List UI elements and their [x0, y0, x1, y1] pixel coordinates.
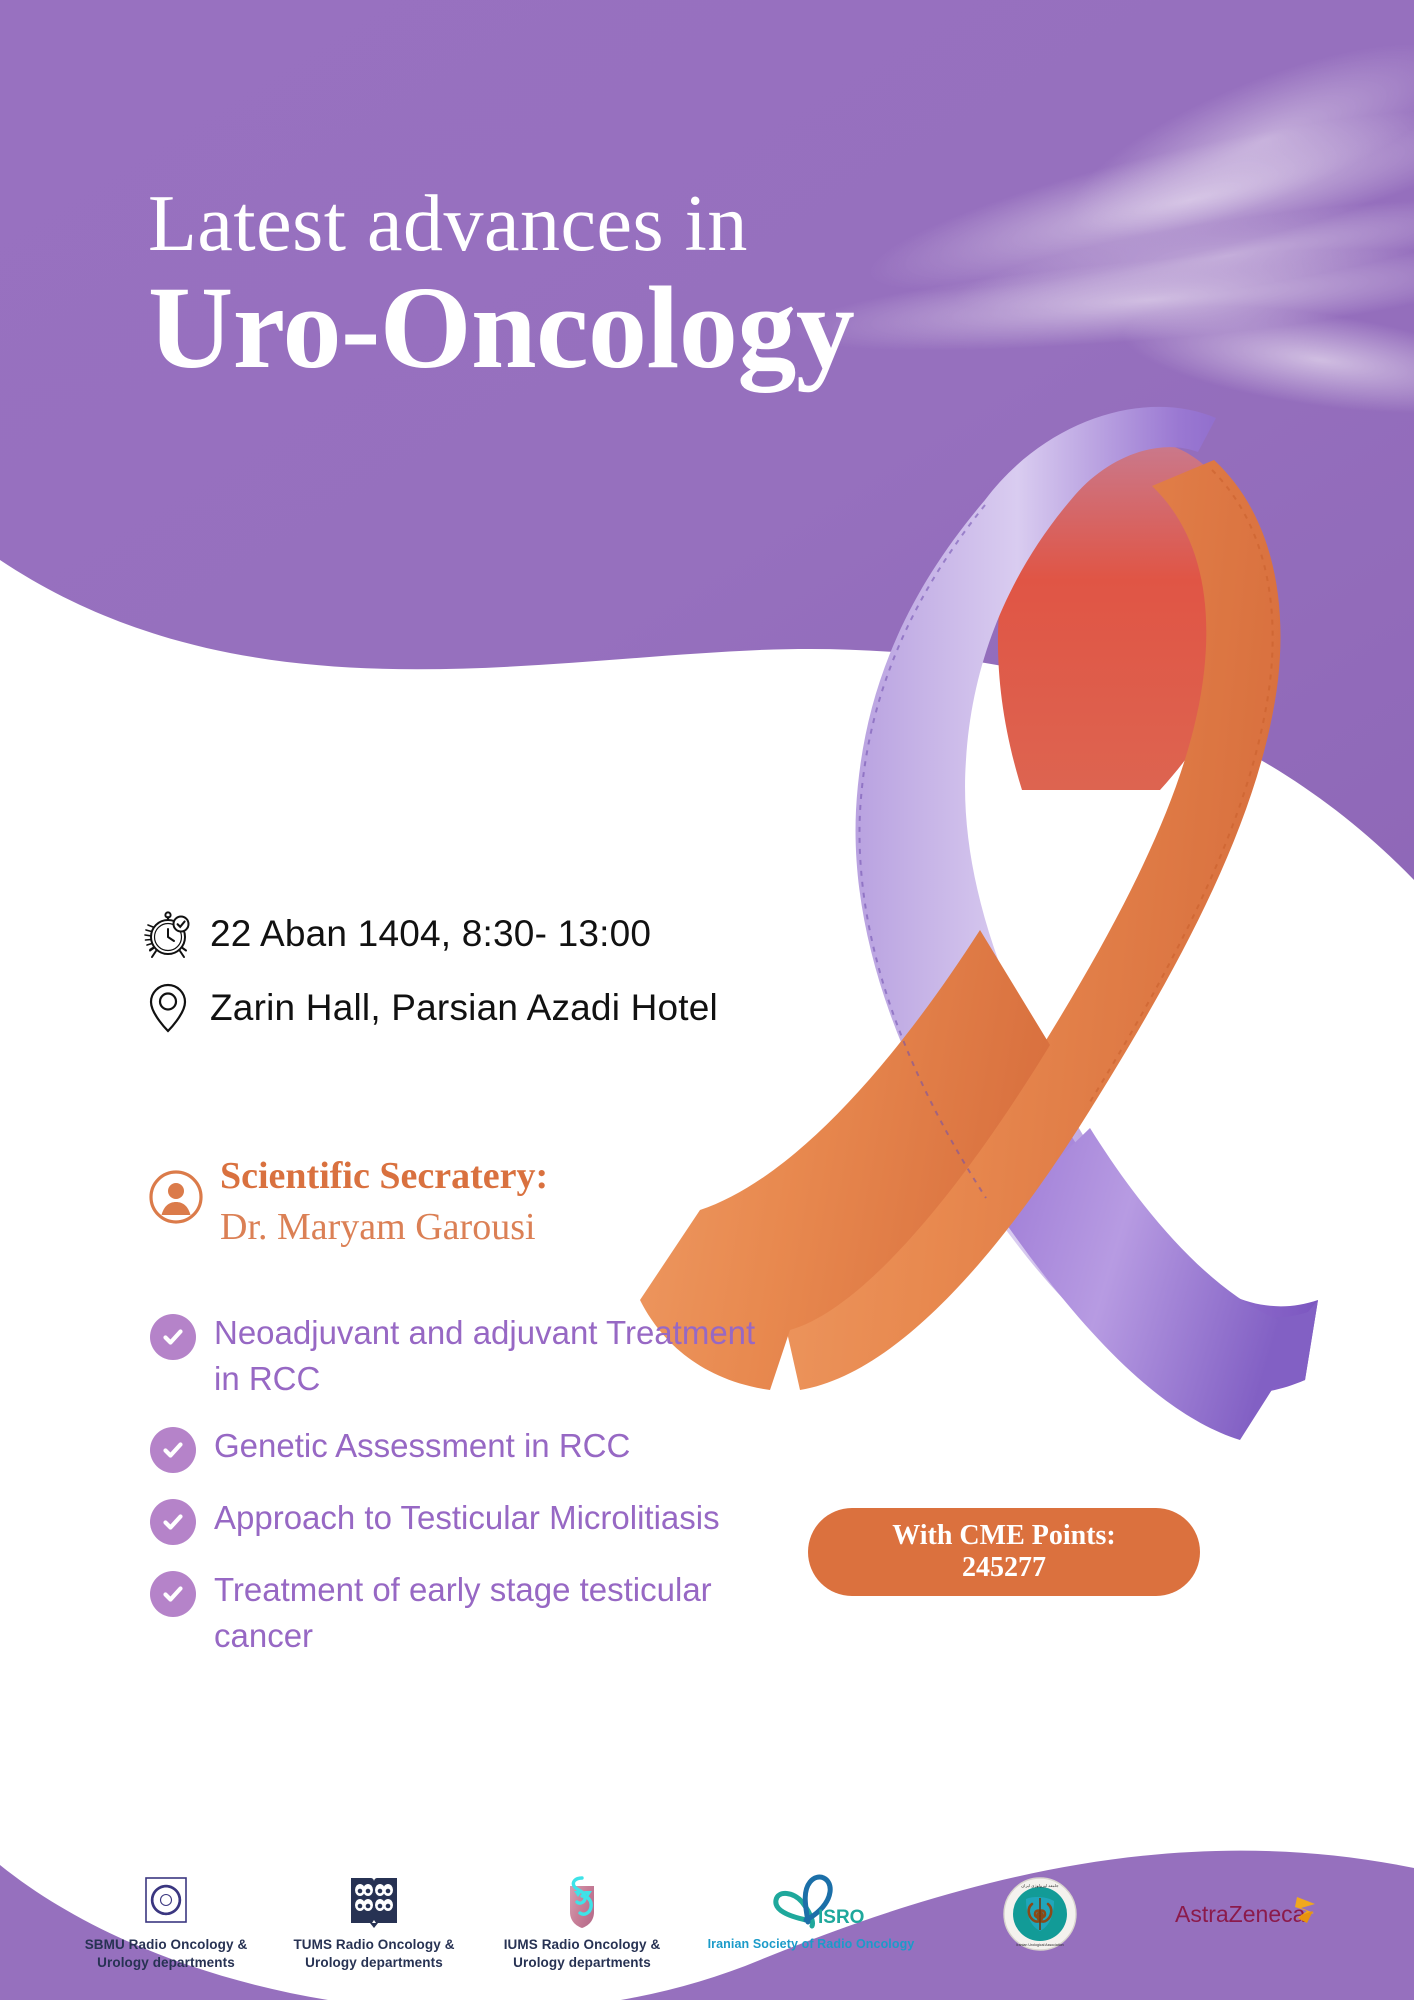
poster-subtitle: Latest advances in [148, 185, 1128, 263]
scientific-secretary-block: Scientific Secratery: Dr. Maryam Garousi [148, 1155, 548, 1252]
location-pin-icon [140, 979, 196, 1037]
check-circle-icon [150, 1499, 196, 1545]
sbmu-rosette-logo [138, 1868, 194, 1930]
secretary-name: Dr. Maryam Garousi [220, 1203, 548, 1252]
topic-label: Treatment of early stage testicular canc… [214, 1567, 770, 1658]
astrazeneca-logo: AstraZeneca [1173, 1868, 1323, 1960]
check-circle-icon [150, 1314, 196, 1360]
list-item: Neoadjuvant and adjuvant Treatment in RC… [150, 1310, 770, 1401]
tums-book-logo [347, 1868, 401, 1930]
svg-text:ISRO: ISRO [818, 1907, 864, 1928]
logo-astrazeneca: AstraZeneca [1144, 1868, 1352, 1966]
svg-text:جامعه اورولوژی ایران: جامعه اورولوژی ایران [1021, 1883, 1059, 1888]
footer-logos: SBMU Radio Oncology & Urology department… [0, 1868, 1414, 1972]
svg-text:AstraZeneca: AstraZeneca [1175, 1901, 1306, 1927]
event-details: 22 Aban 1404, 8:30- 13:00 Zarin Hall, Pa… [140, 905, 820, 1053]
iranian-urological-association-seal: جامعه اورولوژی ایران Iranian Urological … [1002, 1868, 1078, 1960]
list-item: Treatment of early stage testicular canc… [150, 1567, 770, 1658]
conference-poster: Latest advances in Uro-Oncology [0, 0, 1414, 2000]
person-circle-icon [148, 1169, 204, 1225]
topic-label: Neoadjuvant and adjuvant Treatment in RC… [214, 1310, 770, 1401]
event-location-text: Zarin Hall, Parsian Azadi Hotel [210, 987, 718, 1029]
secretary-title: Scientific Secratery: [220, 1155, 548, 1199]
logo-caption: Iranian Society of Radio Oncology [708, 1936, 915, 1953]
event-datetime-text: 22 Aban 1404, 8:30- 13:00 [210, 913, 651, 955]
svg-text:Iranian Urological Association: Iranian Urological Association [1016, 1943, 1063, 1947]
list-item: Genetic Assessment in RCC [150, 1423, 770, 1473]
page-title: Uro-Oncology [148, 269, 1128, 387]
logo-iums: IUMS Radio Oncology & Urology department… [478, 1868, 686, 1972]
status-badge: With CME Points: 245277 [808, 1508, 1200, 1596]
topics-list: Neoadjuvant and adjuvant Treatment in RC… [150, 1310, 770, 1680]
cme-value: 245277 [962, 1552, 1046, 1584]
topic-label: Genetic Assessment in RCC [214, 1423, 630, 1469]
check-circle-icon [150, 1427, 196, 1473]
logo-caption: TUMS Radio Oncology & Urology department… [270, 1936, 478, 1972]
logo-tums: TUMS Radio Oncology & Urology department… [270, 1868, 478, 1972]
alarm-clock-icon [140, 905, 196, 963]
poster-header: Latest advances in Uro-Oncology [148, 185, 1128, 387]
isro-ribbon-logo: ISRO [756, 1868, 866, 1930]
iums-logo [558, 1868, 606, 1930]
event-location-row: Zarin Hall, Parsian Azadi Hotel [140, 979, 820, 1037]
logo-caption: IUMS Radio Oncology & Urology department… [478, 1936, 686, 1972]
check-circle-icon [150, 1571, 196, 1617]
logo-caption: SBMU Radio Oncology & Urology department… [62, 1936, 270, 1972]
logo-sbmu: SBMU Radio Oncology & Urology department… [62, 1868, 270, 1972]
event-datetime-row: 22 Aban 1404, 8:30- 13:00 [140, 905, 820, 963]
cme-label: With CME Points: [892, 1520, 1116, 1552]
topic-label: Approach to Testicular Microlitiasis [214, 1495, 720, 1541]
list-item: Approach to Testicular Microlitiasis [150, 1495, 770, 1545]
logo-isro: ISRO Iranian Society of Radio Oncology [686, 1868, 936, 1953]
logo-iua: جامعه اورولوژی ایران Iranian Urological … [936, 1868, 1144, 1966]
